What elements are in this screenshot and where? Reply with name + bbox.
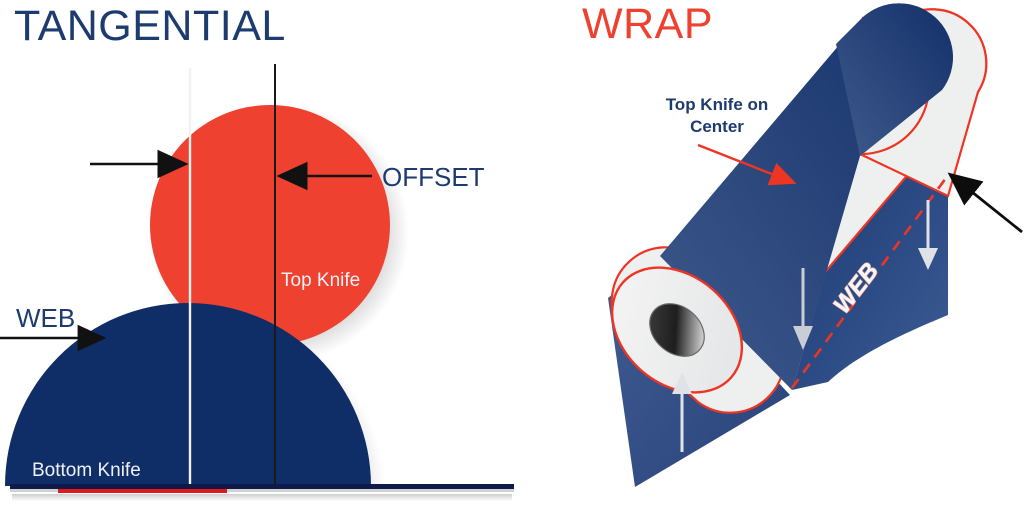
top-knife-label: Top Knife [281, 270, 360, 291]
offset-label: OFFSET [382, 162, 485, 192]
baseline-bar [10, 484, 514, 490]
bottom-knife-label: Bottom Knife [32, 460, 141, 481]
wrap-panel: WRAP [560, 0, 1024, 530]
tangential-title: TANGENTIAL [14, 2, 286, 50]
tangential-panel: TANGENTIAL OFFSET Top Knife Bottom Knife [0, 0, 560, 530]
baseline-red-segment [58, 489, 227, 493]
top-knife-callout-line1: Top Knife on [666, 95, 769, 114]
web-label: WEB [16, 303, 75, 333]
wrap-svg: WRAP [560, 0, 1024, 530]
wrap-title: WRAP [582, 0, 713, 48]
top-knife-callout-line2: Center [690, 117, 744, 136]
diagram-canvas: TANGENTIAL OFFSET Top Knife Bottom Knife [0, 0, 1024, 530]
tangential-svg: TANGENTIAL OFFSET Top Knife Bottom Knife [0, 0, 560, 530]
baseline-shadow [12, 494, 512, 501]
contact-point-arrow [952, 176, 1022, 232]
